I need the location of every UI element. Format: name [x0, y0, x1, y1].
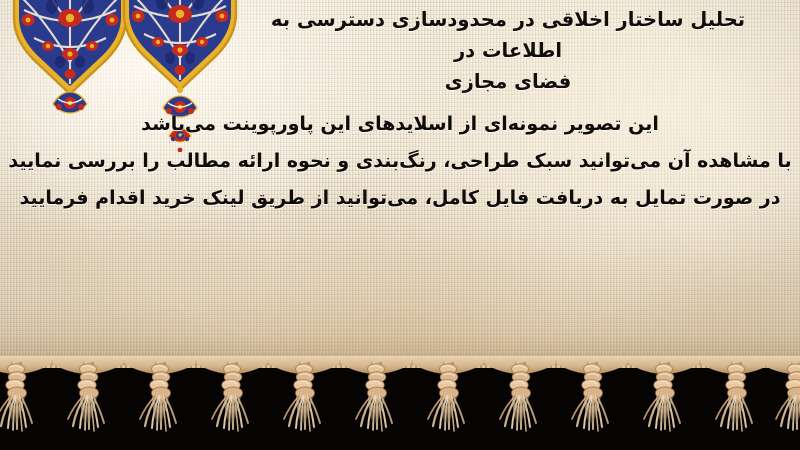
black-base-strip [0, 368, 800, 450]
slide-canvas: تحلیل ساختار اخلاقی در محدودسازی دسترسی … [0, 0, 800, 450]
body-line-2: با مشاهده آن می‌توانید سبک طراحی، رنگ‌بن… [8, 143, 792, 180]
slide-title-line-1: تحلیل ساختار اخلاقی در محدودسازی دسترسی … [271, 8, 745, 62]
slide-title: تحلیل ساختار اخلاقی در محدودسازی دسترسی … [228, 4, 788, 98]
slide-text-layer: تحلیل ساختار اخلاقی در محدودسازی دسترسی … [0, 0, 800, 372]
body-line-3: در صورت تمایل به دریافت فایل کامل، می‌تو… [8, 180, 792, 217]
slide-title-line-2: فضای مجازی [445, 70, 572, 93]
slide-body: این تصویر نمونه‌ای از اسلایدهای این پاور… [8, 106, 792, 217]
body-line-1: این تصویر نمونه‌ای از اسلایدهای این پاور… [8, 106, 792, 143]
